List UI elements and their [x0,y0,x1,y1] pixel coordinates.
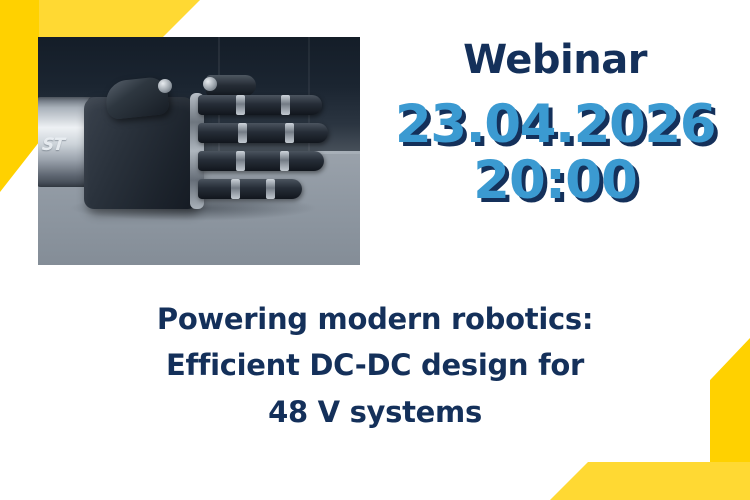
robot-finger-joint [285,123,294,143]
robotic-hand-photo: ST [38,37,360,265]
robot-finger-joint [281,95,290,115]
event-subject-line-2: Efficient DC-DC design for [75,342,675,388]
robot-joint-bolt [203,77,217,91]
corner-accent-bottom-right-vertical [710,338,750,500]
event-date: 23.04.2026 [375,98,735,152]
robot-finger-joint [266,179,275,199]
robot-finger [198,95,322,115]
event-type-title: Webinar [375,38,735,82]
event-subject-line-3: 48 V systems [75,389,675,435]
robot-finger-joint [236,95,245,115]
event-subject-block: Powering modern robotics: Efficient DC-D… [75,296,675,435]
st-brand-logo: ST [41,135,65,155]
robot-finger [198,179,302,199]
headline-block: Webinar 23.04.2026 20:00 [375,38,735,208]
robot-finger-joint [280,151,289,171]
webinar-poster: ST Webinar 23.04.2026 20:00 Powering mod… [0,0,750,500]
robot-joint-bolt [158,79,172,93]
robot-finger-joint [236,151,245,171]
event-time: 20:00 [375,154,735,208]
robot-finger-joint [231,179,240,199]
corner-accent-bottom-right-horizontal [550,462,750,500]
corner-accent-top-left-horizontal [0,0,200,38]
robot-finger-joint [238,123,247,143]
robot-finger [198,151,324,171]
event-subject-line-1: Powering modern robotics: [75,296,675,342]
robot-finger [198,123,328,143]
corner-accent-top-left-vertical [0,0,39,192]
